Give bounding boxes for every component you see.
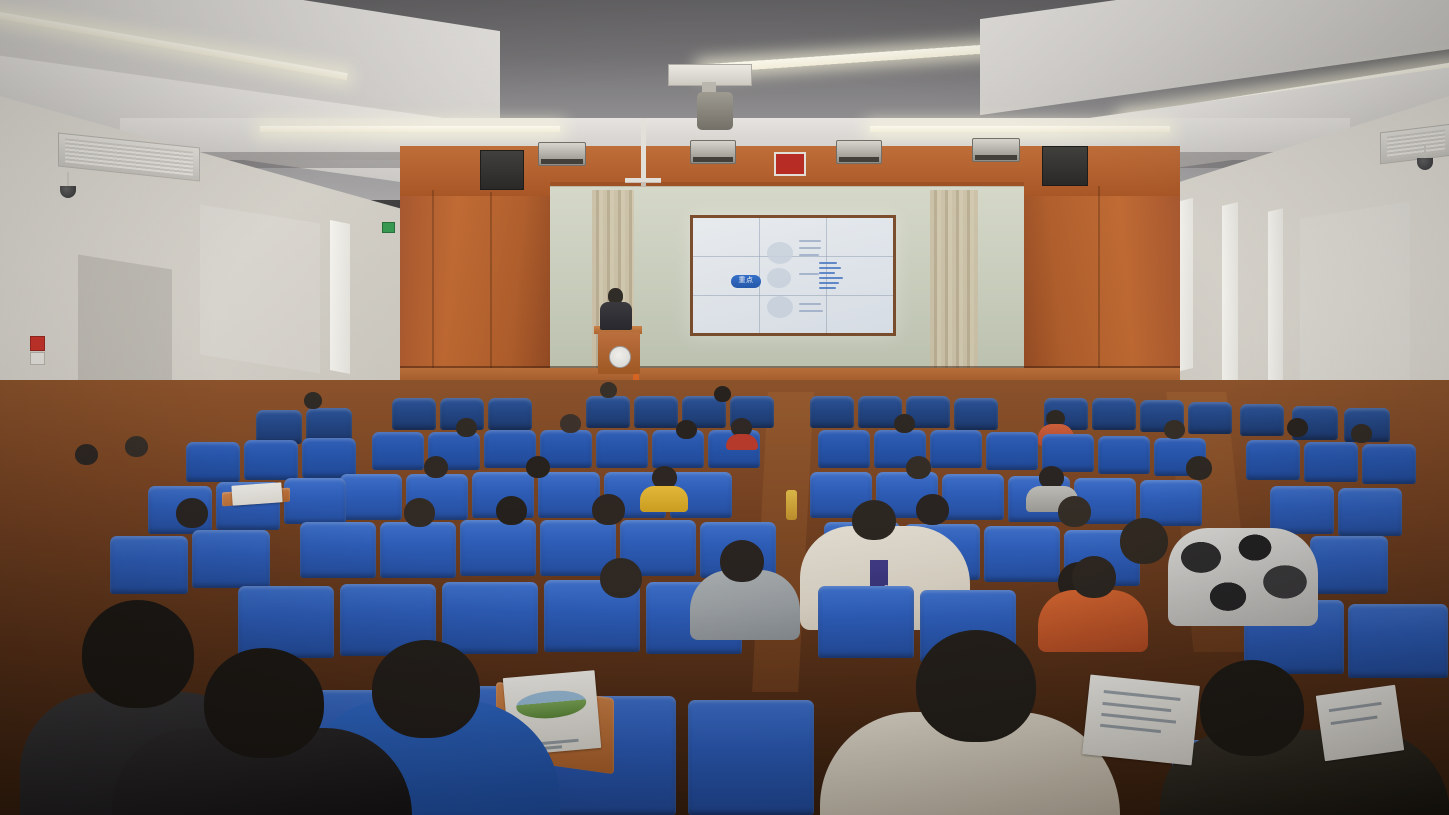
- audience-member: [520, 456, 556, 488]
- seat[interactable]: [256, 410, 302, 444]
- head: [1186, 456, 1212, 480]
- wood-seam: [432, 190, 434, 380]
- book-text-line: [1329, 701, 1382, 711]
- stage-wood-panel-left: [400, 190, 550, 380]
- seat[interactable]: [810, 396, 854, 428]
- head: [526, 456, 550, 478]
- head: [204, 648, 324, 758]
- presenter: [596, 288, 636, 332]
- slide-text-line: [799, 254, 819, 256]
- seat[interactable]: [186, 442, 240, 482]
- audience-member: [170, 498, 216, 540]
- head: [1287, 418, 1308, 437]
- seat[interactable]: [1310, 536, 1388, 594]
- head: [600, 382, 617, 398]
- head: [304, 392, 322, 409]
- seat[interactable]: [284, 478, 346, 524]
- head: [404, 498, 435, 527]
- audience-member-red: [726, 418, 758, 446]
- stage-light: [836, 140, 882, 164]
- wall-panel-left: [200, 204, 320, 373]
- slide-text-line: [819, 277, 843, 279]
- yellow-jacket: [640, 486, 688, 512]
- foreground-student-right: [1160, 660, 1449, 815]
- head: [592, 494, 625, 525]
- slide-text-line: [819, 267, 841, 269]
- head: [424, 456, 448, 478]
- audience-member: [398, 498, 444, 540]
- ceiling-light-strip: [870, 126, 1170, 132]
- head: [1200, 660, 1304, 756]
- head: [560, 414, 581, 433]
- slide-node-top: [767, 242, 793, 264]
- book-text-line: [1331, 715, 1377, 724]
- seat[interactable]: [1098, 436, 1150, 474]
- seat[interactable]: [340, 474, 402, 520]
- projection-video-wall: 重点: [690, 215, 896, 336]
- audience-member: [556, 414, 586, 440]
- presenter-body: [600, 302, 632, 330]
- wall-light-strip-right: [1222, 202, 1238, 386]
- audience-member: [452, 418, 482, 444]
- book-text-line: [1103, 702, 1171, 712]
- red-jacket: [726, 434, 758, 450]
- head: [496, 496, 527, 525]
- seat[interactable]: [1338, 488, 1402, 536]
- head: [176, 498, 208, 528]
- dark-jacket: [1160, 730, 1449, 815]
- stage-wood-panel-right: [1020, 186, 1180, 382]
- fire-alarm-plate-left: [30, 352, 45, 365]
- book-text-line: [1102, 713, 1177, 724]
- notebook[interactable]: [231, 482, 282, 505]
- seat[interactable]: [1188, 402, 1232, 434]
- audience-member: [890, 414, 920, 440]
- seat[interactable]: [302, 438, 356, 478]
- audience-member: [900, 456, 938, 490]
- seat[interactable]: [596, 430, 648, 468]
- open-book-right[interactable]: [1082, 674, 1200, 765]
- head: [906, 456, 931, 479]
- head: [714, 386, 731, 402]
- seat[interactable]: [488, 398, 532, 430]
- audience-member: [710, 386, 736, 408]
- audience-member: [672, 420, 702, 446]
- audience-member: [120, 436, 154, 466]
- audience-member: [586, 494, 634, 538]
- head: [676, 420, 697, 439]
- audience-member: [1282, 418, 1314, 446]
- audience-member: [1180, 456, 1220, 492]
- ceiling-speaker-right: [1042, 146, 1088, 186]
- stage-light: [972, 138, 1020, 162]
- seat[interactable]: [372, 432, 424, 470]
- audience-member: [592, 558, 652, 614]
- slide-highlight-badge: 重点: [731, 275, 761, 288]
- fire-alarm-device-left: [30, 336, 45, 351]
- slide-node-bottom: [767, 296, 793, 318]
- audience-member: [690, 540, 800, 636]
- lecture-hall-photo: 重点: [0, 0, 1449, 815]
- seat[interactable]: [1246, 440, 1300, 480]
- foreground-student-center: [112, 648, 412, 815]
- university-emblem: [609, 346, 631, 368]
- camo-backpack: [1168, 528, 1318, 626]
- slide-text-line: [819, 272, 835, 274]
- slide-text-line: [799, 303, 821, 305]
- exit-sign-icon: [382, 222, 395, 233]
- water-bottle-seat[interactable]: [786, 490, 797, 520]
- head: [916, 630, 1036, 742]
- head: [600, 558, 642, 598]
- alarm-indicator-box: [774, 152, 806, 176]
- videowall-bezel: [693, 295, 893, 296]
- wall-panel-right: [1300, 201, 1410, 398]
- slide-node-middle: [767, 268, 791, 288]
- slide-text-line: [819, 262, 837, 264]
- wall-light-strip-right: [1268, 208, 1283, 401]
- book-text-line: [1104, 690, 1181, 701]
- audience-member: [70, 444, 104, 474]
- book-text-line: [1100, 724, 1160, 733]
- stage-curtain-right: [930, 190, 978, 368]
- slide-text-line: [799, 273, 819, 275]
- audience-member: [596, 382, 622, 404]
- videowall-bezel: [826, 218, 827, 333]
- slide-text-line: [799, 240, 821, 242]
- head: [125, 436, 148, 457]
- audience-member: [1346, 424, 1378, 452]
- stage-light: [690, 140, 736, 164]
- audience-member-yellow: [640, 466, 688, 510]
- ceiling-projector: [697, 92, 733, 130]
- head: [1072, 556, 1116, 598]
- seat[interactable]: [300, 522, 376, 578]
- seat[interactable]: [986, 432, 1038, 470]
- slide-text-line: [819, 282, 839, 284]
- ceiling-light-strip: [260, 126, 560, 132]
- slide-text-line: [799, 247, 821, 249]
- head: [456, 418, 477, 437]
- audience-member: [1052, 496, 1100, 540]
- head: [852, 500, 896, 540]
- camo-backpack-holder: [1168, 516, 1318, 626]
- slide-text-line: [819, 287, 836, 289]
- paper-sheet-right[interactable]: [1316, 685, 1404, 761]
- wall-light-strip-left: [330, 220, 350, 374]
- head: [1164, 420, 1185, 439]
- seat[interactable]: [1092, 398, 1136, 430]
- seat[interactable]: [110, 536, 188, 594]
- head: [1351, 424, 1372, 443]
- head: [1058, 496, 1091, 527]
- head: [894, 414, 915, 433]
- slide-text-line: [799, 310, 823, 312]
- seat[interactable]: [244, 440, 298, 480]
- wood-seam: [490, 192, 492, 378]
- head: [75, 444, 98, 465]
- ceiling-speaker-left: [480, 150, 524, 190]
- seat[interactable]: [954, 398, 998, 430]
- videowall-bezel: [759, 218, 760, 333]
- audience-member: [1160, 420, 1190, 446]
- backdrop-rail: [550, 182, 1024, 187]
- videowall-bezel: [693, 256, 893, 257]
- seat[interactable]: [818, 430, 870, 468]
- stage-edge-line: [400, 366, 1180, 368]
- seat[interactable]: [1240, 404, 1284, 436]
- stage-light: [538, 142, 586, 166]
- seat[interactable]: [688, 700, 814, 815]
- foreground-student-cream: [820, 630, 1120, 815]
- head: [1120, 518, 1168, 564]
- audience-member: [300, 392, 326, 414]
- audience-member: [490, 496, 536, 538]
- head: [720, 540, 764, 582]
- seat[interactable]: [392, 398, 436, 430]
- wood-seam: [1098, 186, 1100, 382]
- audience-member: [418, 456, 454, 488]
